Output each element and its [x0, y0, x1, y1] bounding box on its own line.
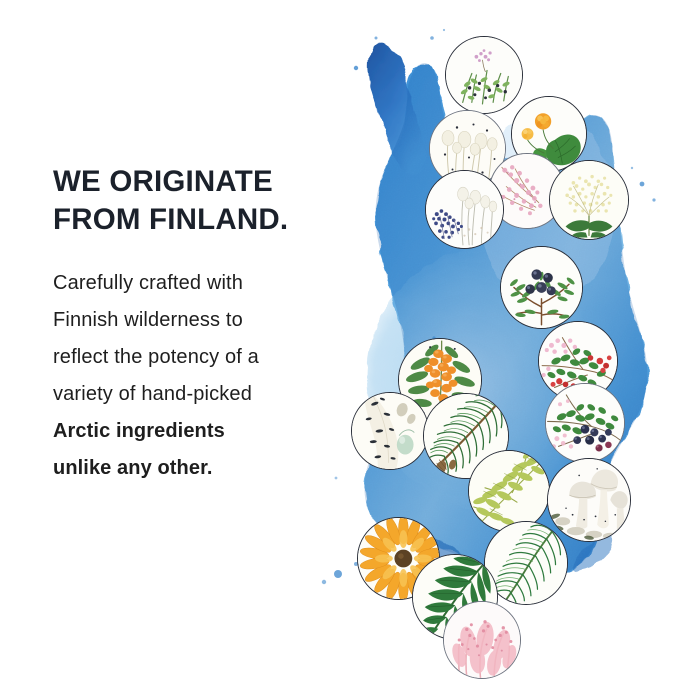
ingredient-circle-willowherb[interactable] — [443, 601, 521, 679]
elderflower-icon — [550, 161, 628, 239]
body-line-emphasis: unlike any other. — [53, 450, 353, 487]
crowberry-heather-icon — [446, 37, 522, 113]
rowan-leaves-icon — [469, 451, 549, 531]
body-line: reflect the potency of a — [53, 339, 353, 376]
body-line: variety of hand-picked — [53, 376, 353, 413]
lavender-bilberry-icon — [426, 171, 503, 248]
ingredient-circle-crowberry-heather[interactable] — [445, 36, 523, 114]
text-column: WE ORIGINATE FROM FINLAND. Carefully cra… — [53, 163, 353, 488]
birch-bark-icon — [352, 393, 428, 469]
body-paragraph: Carefully crafted with Finnish wildernes… — [53, 265, 353, 488]
page-title: WE ORIGINATE FROM FINLAND. — [53, 163, 353, 239]
ingredient-circle-birch-bark[interactable] — [351, 392, 429, 470]
juniper-icon — [501, 247, 582, 328]
ingredient-circle-mushrooms[interactable] — [547, 458, 631, 542]
poster-canvas: WE ORIGINATE FROM FINLAND. Carefully cra… — [0, 0, 679, 679]
body-line: Finnish wilderness to — [53, 302, 353, 339]
ingredient-circle-juniper[interactable] — [500, 246, 583, 329]
body-line-emphasis: Arctic ingredients — [53, 413, 353, 450]
ingredient-circle-rowan-leaves[interactable] — [468, 450, 550, 532]
willowherb-icon — [444, 602, 520, 678]
mushrooms-icon — [548, 459, 630, 541]
ingredient-circle-elderflower[interactable] — [549, 160, 629, 240]
body-line: Carefully crafted with — [53, 265, 353, 302]
finland-map — [316, 8, 679, 679]
bilberry-icon — [546, 384, 624, 462]
ingredient-circle-lavender-bilberry[interactable] — [425, 170, 504, 249]
ingredient-circle-bilberry[interactable] — [545, 383, 625, 463]
